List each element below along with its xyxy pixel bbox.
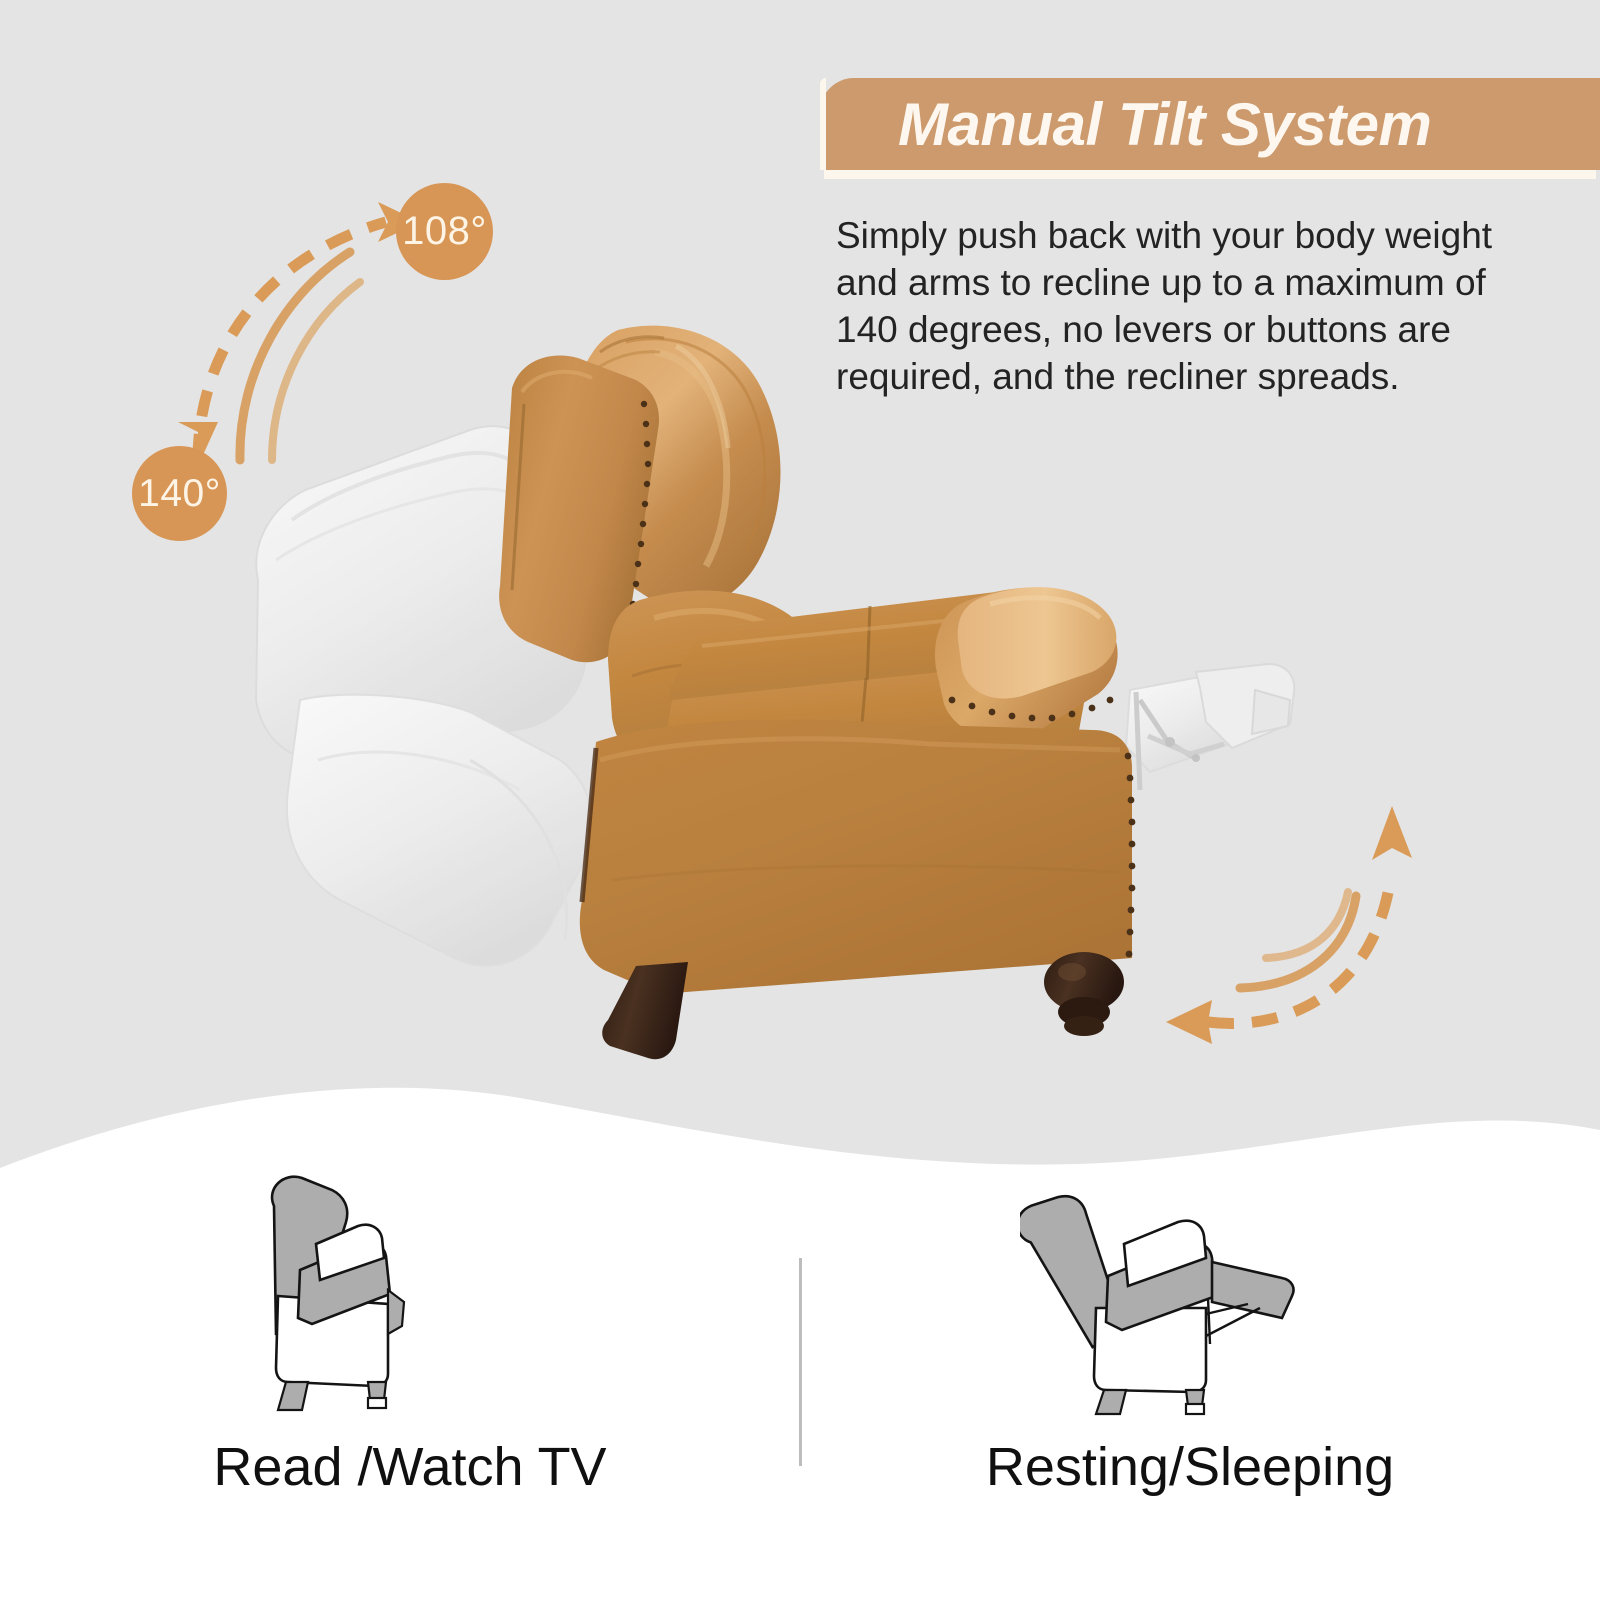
product-photo (0, 0, 1600, 1240)
mode-divider (799, 1258, 802, 1466)
chair-front-bun-foot (1044, 952, 1124, 1036)
title-banner-underline (824, 170, 1596, 179)
description-line-1: Simply push back with your body weight (836, 213, 1556, 260)
angle-badge-140: 140° (132, 446, 227, 541)
infographic-stage: Manual Tilt System Simply push back with… (0, 0, 1600, 1600)
description-text: Simply push back with your body weight a… (836, 213, 1556, 401)
chair-side-body (580, 719, 1136, 994)
chair-rear-leg (602, 962, 688, 1059)
ghost-extended-footrest (1126, 664, 1294, 790)
title-banner: Manual Tilt System (820, 78, 1600, 170)
description-line-4: required, and the recliner spreads. (836, 354, 1556, 401)
angle-badge-108: 108° (396, 183, 493, 280)
mode-label-resting-sleeping: Resting/Sleeping (986, 1436, 1394, 1498)
mode-label-read-watch-tv: Read /Watch TV (213, 1436, 606, 1498)
page-title: Manual Tilt System (898, 90, 1431, 159)
description-line-3: 140 degrees, no levers or buttons are (836, 307, 1556, 354)
title-banner-left-edge (820, 78, 826, 170)
description-line-2: and arms to recline up to a maximum of (836, 260, 1556, 307)
chair-rolled-arm (935, 587, 1118, 738)
